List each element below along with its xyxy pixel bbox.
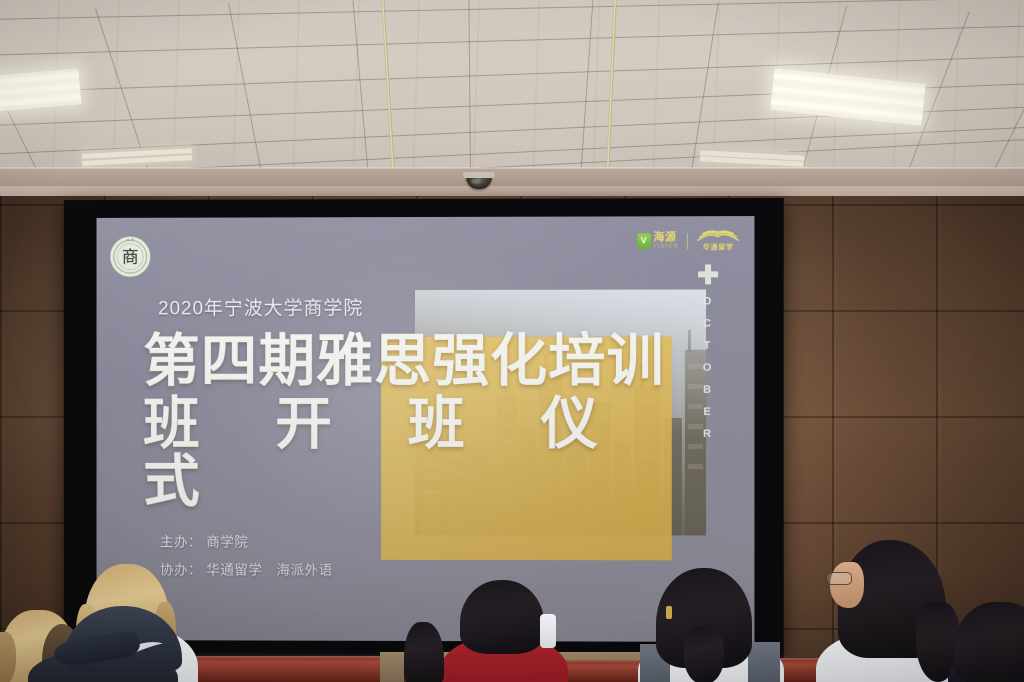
conference-room-photo: 大 学 商 V 海源 VISION bbox=[0, 0, 1024, 682]
slide-subtitle: 2020年宁波大学商学院 bbox=[158, 293, 363, 320]
haiyuan-logo-en: VISION bbox=[653, 244, 679, 249]
haiyuan-logo-cn: 海源 bbox=[653, 232, 679, 243]
huatong-liuxue-logo: 华通留学 bbox=[696, 230, 740, 251]
soffit-highlight bbox=[0, 167, 1024, 169]
ponytail bbox=[684, 626, 724, 682]
slide-main-title: 第四期雅思强化培训 班 开 班 仪 式 bbox=[143, 332, 723, 513]
audience-member bbox=[636, 564, 788, 682]
audience-member bbox=[404, 612, 448, 682]
uniform-panel bbox=[748, 642, 780, 682]
vision-badge-icon: V bbox=[637, 233, 650, 248]
organizer-line: 主办： 商学院 bbox=[160, 529, 333, 557]
hair bbox=[404, 622, 444, 682]
ceiling-light-fixture bbox=[0, 68, 81, 111]
eyeglasses-icon bbox=[826, 572, 852, 585]
hair-strand bbox=[0, 632, 16, 682]
partner-logos: V 海源 VISION bbox=[637, 230, 740, 251]
october-letter: O bbox=[703, 296, 712, 307]
plus-mark-icon bbox=[698, 264, 718, 284]
hair-clip bbox=[666, 606, 672, 619]
slide-title-line-2: 班 开 班 仪 式 bbox=[143, 395, 723, 513]
october-letter: C bbox=[703, 319, 711, 330]
collar bbox=[540, 614, 556, 648]
face bbox=[830, 562, 864, 608]
haiyuan-vision-logo: V 海源 VISION bbox=[637, 232, 679, 249]
svg-text:商: 商 bbox=[122, 247, 139, 267]
audience-member bbox=[948, 596, 1024, 682]
ceiling bbox=[0, 0, 1024, 178]
nbu-business-school-seal-icon: 大 学 商 bbox=[108, 234, 152, 280]
logo-divider bbox=[687, 233, 688, 249]
hair bbox=[460, 580, 544, 654]
slide-title-line-1: 第四期雅思强化培训 bbox=[143, 332, 723, 391]
audience-member bbox=[28, 592, 198, 682]
open-book-icon bbox=[696, 230, 740, 243]
audience-member bbox=[444, 580, 564, 682]
huatong-logo-cn: 华通留学 bbox=[703, 244, 734, 251]
svg-text:大 学: 大 学 bbox=[126, 237, 134, 242]
hair bbox=[954, 602, 1024, 682]
